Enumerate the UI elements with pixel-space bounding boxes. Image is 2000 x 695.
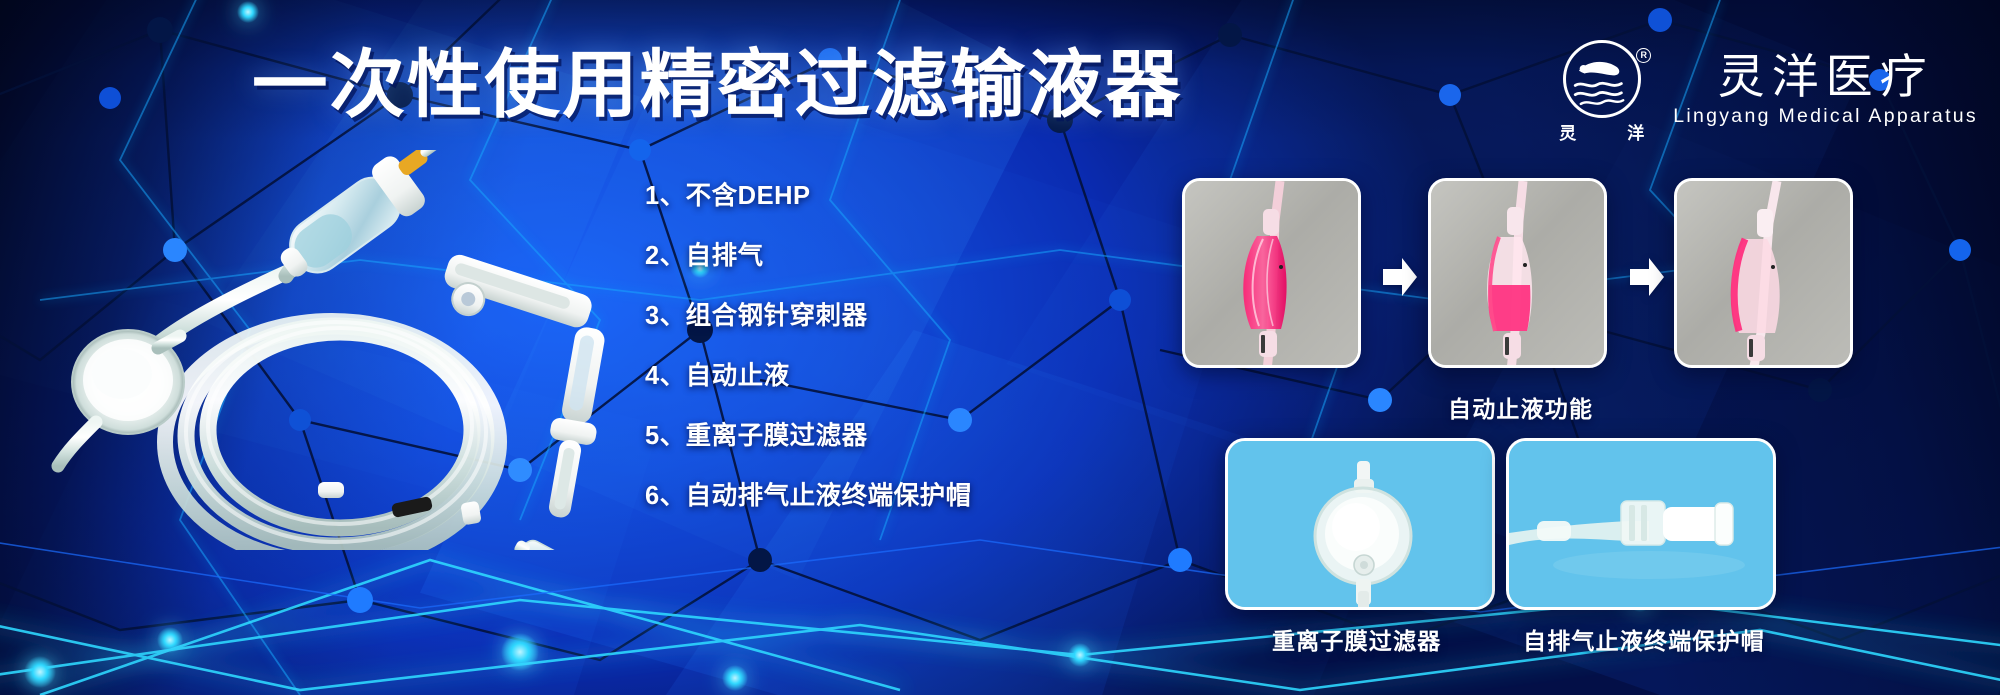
feature-item-2: 2、自排气 [645,235,985,272]
feature-item-3: 3、组合钢针穿刺器 [645,295,985,332]
registered-trademark-icon: R [1636,48,1651,63]
feature-list: 1、不含DEHP 2、自排气 3、组合钢针穿刺器 4、自动止液 5、重离子膜过滤… [645,175,985,512]
company-name-en: Lingyang Medical Apparatus [1673,105,1978,128]
infusion-set-illustration [40,150,660,550]
logo-seal-characters: 灵 洋 [1559,119,1645,144]
feature-item-4: 4、自动止液 [645,355,985,392]
seal-circle-icon [1563,40,1641,118]
sequence-frame-3 [1674,178,1853,368]
sequence-frame-1 [1182,178,1361,368]
logo-mark: R 灵 洋 [1559,40,1651,144]
detail-card-cap-caption: 自排气止液终端保护帽 [1523,622,1765,656]
injection-port [510,534,584,550]
feature-item-1: 1、不含DEHP [645,175,985,212]
sequence-arrow-2-icon [1630,258,1664,296]
banner-title: 一次性使用精密过滤输液器 [252,48,1182,122]
ion-membrane-filter-photo [1228,441,1495,610]
company-logo: R 灵 洋 灵洋医疗 Lingyang Medical Apparatus [1559,40,1978,144]
logo-wordmark: 灵洋医疗 Lingyang Medical Apparatus [1673,52,1978,132]
sequence-caption: 自动止液功能 [1448,390,1593,424]
logo-seal-char-right: 洋 [1627,119,1645,144]
chamber-photo-full [1185,181,1361,368]
product-banner: 一次性使用精密过滤输液器 R 灵 洋 灵洋医疗 Lingyang Medical… [0,0,2000,695]
terminal-protective-cap-photo [1509,441,1776,610]
feature-item-5: 5、重离子膜过滤器 [645,415,985,452]
detail-card-filter-caption: 重离子膜过滤器 [1272,622,1441,656]
sequence-arrow-1-icon [1383,258,1417,296]
detail-card-cap [1506,438,1776,610]
needle-protector [536,324,615,521]
sequence-frame-2 [1428,178,1607,368]
company-name-cn: 灵洋医疗 [1718,52,1934,101]
wave-swimmer-icon [1566,43,1638,115]
roller-clamp [435,252,595,352]
chamber-photo-empty [1677,181,1853,368]
detail-card-filter [1225,438,1495,610]
feature-item-6: 6、自动排气止液终端保护帽 [645,475,985,512]
hero-product-image [40,150,660,550]
chamber-photo-half [1431,181,1607,368]
logo-seal-char-left: 灵 [1559,119,1577,144]
